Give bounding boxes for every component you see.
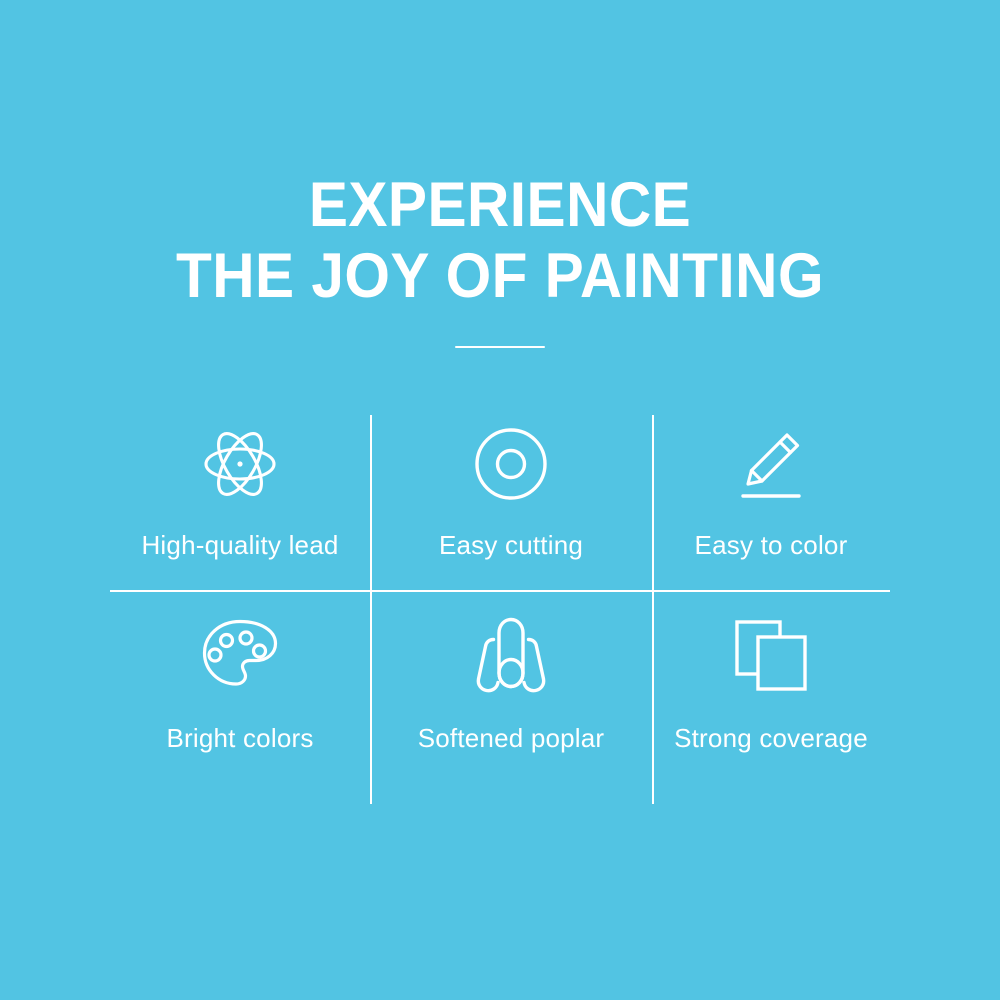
- feature-item-easy-to-color: Easy to color: [652, 412, 890, 590]
- wood-logs-icon: [472, 590, 550, 710]
- atom-icon: [203, 412, 277, 516]
- page-title-line-1: EXPERIENCE: [35, 170, 965, 241]
- feature-item-softened-poplar: Softened poplar: [370, 590, 652, 806]
- palette-icon: [201, 590, 279, 710]
- feature-label: Softened poplar: [418, 722, 605, 754]
- page-title-line-2: THE JOY OF PAINTING: [35, 241, 965, 312]
- feature-item-bright-colors: Bright colors: [110, 590, 370, 806]
- feature-label: Strong coverage: [674, 722, 868, 754]
- title-underline-rule: [455, 346, 545, 348]
- pencil-icon: [733, 412, 809, 516]
- feature-item-easy-cutting: Easy cutting: [370, 412, 652, 590]
- page-title: EXPERIENCE THE JOY OF PAINTING: [35, 170, 965, 312]
- feature-label: Easy to color: [695, 529, 848, 561]
- feature-label: High-quality lead: [141, 529, 338, 561]
- feature-item-strong-coverage: Strong coverage: [652, 590, 890, 806]
- poster-canvas: EXPERIENCE THE JOY OF PAINTING High-qual…: [0, 0, 1000, 1000]
- feature-label: Easy cutting: [439, 529, 583, 561]
- donut-circle-icon: [474, 412, 548, 516]
- layers-copy-icon: [733, 590, 809, 710]
- feature-grid: High-quality lead Easy cutting: [110, 412, 890, 806]
- feature-label: Bright colors: [166, 722, 313, 754]
- feature-item-high-quality-lead: High-quality lead: [110, 412, 370, 590]
